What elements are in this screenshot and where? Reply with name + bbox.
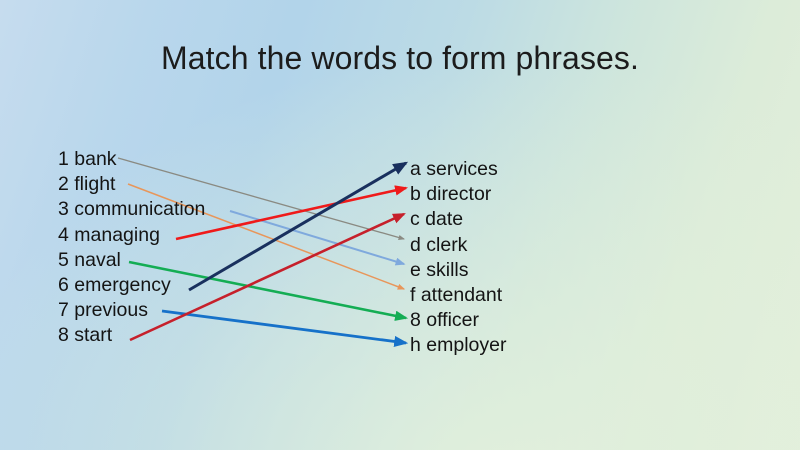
left-list-item[interactable]: 8 start <box>58 323 205 348</box>
right-list-item[interactable]: h employer <box>410 333 506 358</box>
page-title: Match the words to form phrases. <box>0 40 800 77</box>
connector-managing-to-director <box>176 188 406 239</box>
left-word-list: 1 bank 2 flight 3 communication 4 managi… <box>58 147 205 349</box>
left-list-item[interactable]: 6 emergency <box>58 273 205 298</box>
left-list-item[interactable]: 2 flight <box>58 172 205 197</box>
right-list-item[interactable]: a services <box>410 157 506 182</box>
left-list-item[interactable]: 1 bank <box>58 147 205 172</box>
right-list-item[interactable]: 8 officer <box>410 308 506 333</box>
right-word-list: a services b director c date d clerk e s… <box>410 157 506 359</box>
right-list-item[interactable]: e skills <box>410 258 506 283</box>
slide-canvas: Match the words to form phrases. 1 bank … <box>0 0 800 450</box>
left-list-item[interactable]: 4 managing <box>58 223 205 248</box>
connector-emergency-to-services <box>189 163 406 290</box>
connector-communication-to-skills <box>230 211 404 264</box>
right-list-item[interactable]: b director <box>410 182 506 207</box>
right-list-item[interactable]: c date <box>410 207 506 232</box>
right-list-item[interactable]: d clerk <box>410 233 506 258</box>
left-list-item[interactable]: 5 naval <box>58 248 205 273</box>
left-list-item[interactable]: 7 previous <box>58 298 205 323</box>
left-list-item[interactable]: 3 communication <box>58 197 205 222</box>
right-list-item[interactable]: f attendant <box>410 283 506 308</box>
